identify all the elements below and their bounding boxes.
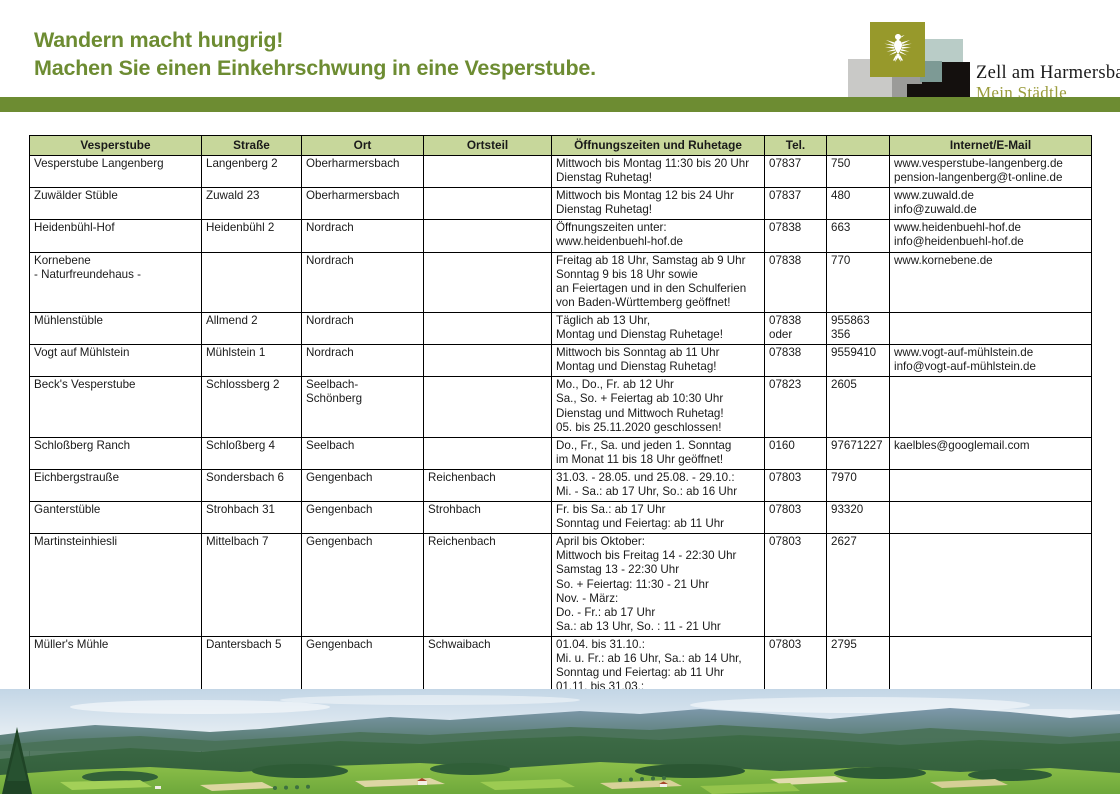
cell-oeffnungszeiten: Do., Fr., Sa. und jeden 1. Sonntagim Mon… [552,437,765,469]
cell-internet-email: www.vesperstube-langenberg.depension-lan… [890,156,1092,188]
cell-line: Gengenbach [306,535,419,549]
cell-line: Sondersbach 6 [206,471,297,485]
cell-vesperstube: Kornebene- Naturfreundehaus - [30,252,202,312]
column-header-strasse: Straße [202,136,302,156]
cell-line: Freitag ab 18 Uhr, Samstag ab 9 Uhr [556,254,760,268]
table-row: EichbergstraußeSondersbach 6GengenbachRe… [30,469,1092,501]
cell-vesperstube: Mühlenstüble [30,312,202,344]
headline-line-1: Wandern macht hungrig! [34,26,596,54]
logo-title: Zell am Harmersbach [976,63,1120,83]
cell-line: Strohbach [428,503,547,517]
cell-ortsteil [424,377,552,437]
cell-tel-number: 2627 [827,534,890,637]
cell-ort: Nordrach [302,220,424,252]
cell-strasse: Heidenbühl 2 [202,220,302,252]
cell-line: Kornebene [34,254,197,268]
table-row: Heidenbühl-HofHeidenbühl 2Nordrach Öffnu… [30,220,1092,252]
cell-line: 07803 [769,471,822,485]
cell-line: 663 [831,221,885,235]
cell-ortsteil: Reichenbach [424,469,552,501]
cell-ort: Nordrach [302,252,424,312]
cell-internet-email [890,312,1092,344]
cell-ortsteil [424,437,552,469]
cell-strasse: Mühlstein 1 [202,345,302,377]
cell-tel: 07838 [765,345,827,377]
column-header-tel: Tel. [765,136,827,156]
cell-line: Allmend 2 [206,314,297,328]
cell-line: info@vogt-auf-mühlstein.de [894,360,1087,374]
cell-line: Zuwald 23 [206,189,297,203]
cell-ortsteil [424,252,552,312]
cell-line: 750 [831,157,885,171]
cell-oeffnungszeiten: April bis Oktober:Mittwoch bis Freitag 1… [552,534,765,637]
cell-line: 07803 [769,638,822,652]
cell-line: Mittwoch bis Freitag 14 - 22:30 Uhr [556,549,760,563]
cell-line: Montag und Dienstag Ruhetage! [556,328,760,342]
table-row: GanterstübleStrohbach 31GengenbachStrohb… [30,502,1092,534]
column-header-oeffnungszeiten: Öffnungszeiten und Ruhetage [552,136,765,156]
cell-tel: 07837 [765,188,827,220]
cell-internet-email [890,469,1092,501]
cell-line: 07823 [769,378,822,392]
cell-line: oder [769,328,822,342]
cell-strasse: Mittelbach 7 [202,534,302,637]
cell-line: Langenberg 2 [206,157,297,171]
cell-tel: 07837 [765,156,827,188]
cell-line: Strohbach 31 [206,503,297,517]
eagle-crest-icon [870,22,925,77]
cell-line: Nordrach [306,221,419,235]
cell-line: 2795 [831,638,885,652]
cell-ort: Gengenbach [302,502,424,534]
column-header-internet-email: Internet/E-Mail [890,136,1092,156]
cell-line: So. + Feiertag: 11:30 - 21 Uhr [556,578,760,592]
table-row: MartinsteinhiesliMittelbach 7GengenbachR… [30,534,1092,637]
cell-vesperstube: Martinsteinhiesli [30,534,202,637]
cell-tel: 07838 [765,252,827,312]
cell-internet-email [890,534,1092,637]
cell-line: info@zuwald.de [894,203,1087,217]
column-header-tel-number [827,136,890,156]
cell-tel: 07803 [765,502,827,534]
cell-tel-number: 750 [827,156,890,188]
cell-strasse: Schlossberg 2 [202,377,302,437]
cell-line: Öffnungszeiten unter: [556,221,760,235]
cell-internet-email: www.kornebene.de [890,252,1092,312]
cell-ort: Oberharmersbach [302,188,424,220]
cell-line: Schwaibach [428,638,547,652]
cell-line: www.zuwald.de [894,189,1087,203]
cell-line: 97671227 [831,439,885,453]
table-row: Zuwälder StübleZuwald 23Oberharmersbach … [30,188,1092,220]
cell-oeffnungszeiten: Täglich ab 13 Uhr,Montag und Dienstag Ru… [552,312,765,344]
cell-line: 955863 [831,314,885,328]
cell-ort: Seelbach-Schönberg [302,377,424,437]
cell-line: pension-langenberg@t-online.de [894,171,1087,185]
green-divider-bar [0,97,1120,112]
cell-line: 770 [831,254,885,268]
cell-line: 2605 [831,378,885,392]
cell-tel: 07803 [765,469,827,501]
cell-ort: Oberharmersbach [302,156,424,188]
cell-tel-number: 770 [827,252,890,312]
headline-line-2: Machen Sie einen Einkehrschwung in eine … [34,54,596,82]
cell-line: Schloßberg 4 [206,439,297,453]
cell-line: Do. - Fr.: ab 17 Uhr [556,606,760,620]
cell-line: info@heidenbuehl-hof.de [894,235,1087,249]
cell-ortsteil: Strohbach [424,502,552,534]
cell-line: - Naturfreundehaus - [34,268,197,282]
cell-line: Eichbergstrauße [34,471,197,485]
cell-line: Vesperstube Langenberg [34,157,197,171]
cell-line: Mittelbach 7 [206,535,297,549]
cell-line: www.heidenbuehl-hof.de [556,235,760,249]
cell-line: kaelbles@googlemail.com [894,439,1087,453]
cell-oeffnungszeiten: Mittwoch bis Sonntag ab 11 UhrMontag und… [552,345,765,377]
cell-line: Reichenbach [428,471,547,485]
cell-internet-email: www.heidenbuehl-hof.deinfo@heidenbuehl-h… [890,220,1092,252]
table-header-row: Vesperstube Straße Ort Ortsteil Öffnungs… [30,136,1092,156]
cell-tel-number: 9559410 [827,345,890,377]
cell-internet-email [890,377,1092,437]
cell-line: Sonntag und Feiertag: ab 11 Uhr [556,666,760,680]
cell-tel-number: 93320 [827,502,890,534]
cell-ort: Gengenbach [302,469,424,501]
cell-line: Reichenbach [428,535,547,549]
cell-strasse [202,252,302,312]
column-header-ort: Ort [302,136,424,156]
cell-line: Fr. bis Sa.: ab 17 Uhr [556,503,760,517]
logo: Zell am Harmersbach Mein Städtle [843,22,1093,100]
cell-internet-email [890,502,1092,534]
cell-strasse: Zuwald 23 [202,188,302,220]
cell-line: Dienstag Ruhetag! [556,203,760,217]
cell-line: Beck's Vesperstube [34,378,197,392]
cell-line: Mühlstein 1 [206,346,297,360]
cell-line: 93320 [831,503,885,517]
cell-strasse: Sondersbach 6 [202,469,302,501]
cell-line: Samstag 13 - 22:30 Uhr [556,563,760,577]
cell-strasse: Schloßberg 4 [202,437,302,469]
cell-line: 05. bis 25.11.2020 geschlossen! [556,421,760,435]
headline-block: Wandern macht hungrig! Machen Sie einen … [34,26,596,82]
cell-line: www.vogt-auf-mühlstein.de [894,346,1087,360]
column-header-vesperstube: Vesperstube [30,136,202,156]
table-row: Schloßberg RanchSchloßberg 4Seelbach Do.… [30,437,1092,469]
cell-oeffnungszeiten: Mittwoch bis Montag 11:30 bis 20 UhrDien… [552,156,765,188]
cell-internet-email: www.zuwald.deinfo@zuwald.de [890,188,1092,220]
cell-tel: 07838 [765,220,827,252]
cell-line: 01.04. bis 31.10.: [556,638,760,652]
cell-ort: Seelbach [302,437,424,469]
cell-oeffnungszeiten: Mo., Do., Fr. ab 12 UhrSa., So. + Feiert… [552,377,765,437]
cell-ortsteil [424,345,552,377]
cell-oeffnungszeiten: Öffnungszeiten unter:www.heidenbuehl-hof… [552,220,765,252]
cell-line: 356 [831,328,885,342]
cell-vesperstube: Eichbergstrauße [30,469,202,501]
cell-line: Gengenbach [306,471,419,485]
cell-ort: Gengenbach [302,534,424,637]
cell-line: 07837 [769,189,822,203]
cell-strasse: Allmend 2 [202,312,302,344]
cell-vesperstube: Zuwälder Stüble [30,188,202,220]
cell-line: Dantersbach 5 [206,638,297,652]
cell-ortsteil: Reichenbach [424,534,552,637]
black-forest-landscape-photo [0,689,1120,794]
cell-line: Müller's Mühle [34,638,197,652]
cell-line: Ganterstüble [34,503,197,517]
cell-line: Oberharmersbach [306,189,419,203]
table-row: MühlenstübleAllmend 2Nordrach Täglich ab… [30,312,1092,344]
cell-line: Sa., So. + Feiertag ab 10:30 Uhr [556,392,760,406]
cell-line: 9559410 [831,346,885,360]
cell-tel-number: 97671227 [827,437,890,469]
cell-line: www.heidenbuehl-hof.de [894,221,1087,235]
page-header: Wandern macht hungrig! Machen Sie einen … [0,0,1120,95]
cell-line: 31.03. - 28.05. und 25.08. - 29.10.: [556,471,760,485]
cell-line: Täglich ab 13 Uhr, [556,314,760,328]
cell-line: Heidenbühl 2 [206,221,297,235]
cell-internet-email: www.vogt-auf-mühlstein.deinfo@vogt-auf-m… [890,345,1092,377]
table-row: Vogt auf MühlsteinMühlstein 1Nordrach Mi… [30,345,1092,377]
cell-ortsteil [424,220,552,252]
cell-ort: Nordrach [302,345,424,377]
cell-tel-number: 663 [827,220,890,252]
cell-vesperstube: Vesperstube Langenberg [30,156,202,188]
cell-strasse: Langenberg 2 [202,156,302,188]
cell-ortsteil [424,188,552,220]
cell-ortsteil [424,312,552,344]
cell-ort: Nordrach [302,312,424,344]
cell-line: www.vesperstube-langenberg.de [894,157,1087,171]
table-row: Vesperstube LangenbergLangenberg 2Oberha… [30,156,1092,188]
cell-line: von Baden-Württemberg geöffnet! [556,296,760,310]
cell-line: Mittwoch bis Montag 11:30 bis 20 Uhr [556,157,760,171]
cell-line: Vogt auf Mühlstein [34,346,197,360]
cell-line: Schloßberg Ranch [34,439,197,453]
cell-line: Montag und Dienstag Ruhetag! [556,360,760,374]
table-body: Vesperstube LangenbergLangenberg 2Oberha… [30,156,1092,762]
cell-line: Gengenbach [306,503,419,517]
cell-tel-number: 2605 [827,377,890,437]
cell-line: 7970 [831,471,885,485]
cell-line: Nordrach [306,346,419,360]
table-row: Beck's VesperstubeSchlossberg 2Seelbach-… [30,377,1092,437]
cell-tel-number: 955863356 [827,312,890,344]
cell-line: 07803 [769,503,822,517]
column-header-ortsteil: Ortsteil [424,136,552,156]
cell-line: 07838 [769,314,822,328]
cell-line: 07837 [769,157,822,171]
cell-line: Nov. - März: [556,592,760,606]
cell-vesperstube: Ganterstüble [30,502,202,534]
cell-vesperstube: Vogt auf Mühlstein [30,345,202,377]
cell-vesperstube: Heidenbühl-Hof [30,220,202,252]
cell-vesperstube: Beck's Vesperstube [30,377,202,437]
cell-line: Mi. - Sa.: ab 17 Uhr, So.: ab 16 Uhr [556,485,760,499]
cell-tel: 07803 [765,534,827,637]
cell-line: Schlossberg 2 [206,378,297,392]
cell-internet-email: kaelbles@googlemail.com [890,437,1092,469]
cell-line: 07838 [769,254,822,268]
cell-oeffnungszeiten: 31.03. - 28.05. und 25.08. - 29.10.:Mi. … [552,469,765,501]
cell-line: Seelbach [306,439,419,453]
cell-line: 2627 [831,535,885,549]
cell-tel: 0160 [765,437,827,469]
cell-line: Sonntag und Feiertag: ab 11 Uhr [556,517,760,531]
cell-line: Mo., Do., Fr. ab 12 Uhr [556,378,760,392]
cell-line: Schönberg [306,392,419,406]
table-row: Kornebene- Naturfreundehaus - Nordrach F… [30,252,1092,312]
cell-line: Gengenbach [306,638,419,652]
cell-line: Heidenbühl-Hof [34,221,197,235]
cell-tel: 07823 [765,377,827,437]
cell-tel-number: 480 [827,188,890,220]
cell-line: 07803 [769,535,822,549]
cell-vesperstube: Schloßberg Ranch [30,437,202,469]
cell-line: Oberharmersbach [306,157,419,171]
vesperstuben-table-container: Vesperstube Straße Ort Ortsteil Öffnungs… [29,135,1091,762]
cell-line: Do., Fr., Sa. und jeden 1. Sonntag [556,439,760,453]
cell-line: 07838 [769,221,822,235]
cell-line: Mittwoch bis Montag 12 bis 24 Uhr [556,189,760,203]
cell-tel-number: 7970 [827,469,890,501]
cell-line: April bis Oktober: [556,535,760,549]
cell-line: Mi. u. Fr.: ab 16 Uhr, Sa.: ab 14 Uhr, [556,652,760,666]
cell-strasse: Strohbach 31 [202,502,302,534]
cell-line: Dienstag und Mittwoch Ruhetag! [556,407,760,421]
cell-line: Sonntag 9 bis 18 Uhr sowie [556,268,760,282]
cell-tel: 07838oder [765,312,827,344]
cell-line: www.kornebene.de [894,254,1087,268]
cell-line: Zuwälder Stüble [34,189,197,203]
cell-ortsteil [424,156,552,188]
vesperstuben-table: Vesperstube Straße Ort Ortsteil Öffnungs… [29,135,1092,762]
cell-line: 0160 [769,439,822,453]
cell-line: Dienstag Ruhetag! [556,171,760,185]
cell-line: im Monat 11 bis 18 Uhr geöffnet! [556,453,760,467]
cell-oeffnungszeiten: Freitag ab 18 Uhr, Samstag ab 9 UhrSonnt… [552,252,765,312]
cell-line: Sa.: ab 13 Uhr, So. : 11 - 21 Uhr [556,620,760,634]
cell-oeffnungszeiten: Mittwoch bis Montag 12 bis 24 UhrDiensta… [552,188,765,220]
cell-line: 480 [831,189,885,203]
cell-oeffnungszeiten: Fr. bis Sa.: ab 17 UhrSonntag und Feiert… [552,502,765,534]
cell-line: Nordrach [306,254,419,268]
cell-line: Martinsteinhiesli [34,535,197,549]
cell-line: Nordrach [306,314,419,328]
cell-line: an Feiertagen und in den Schulferien [556,282,760,296]
cell-line: Mittwoch bis Sonntag ab 11 Uhr [556,346,760,360]
cell-line: 07838 [769,346,822,360]
cell-line: Mühlenstüble [34,314,197,328]
cell-line: Seelbach- [306,378,419,392]
